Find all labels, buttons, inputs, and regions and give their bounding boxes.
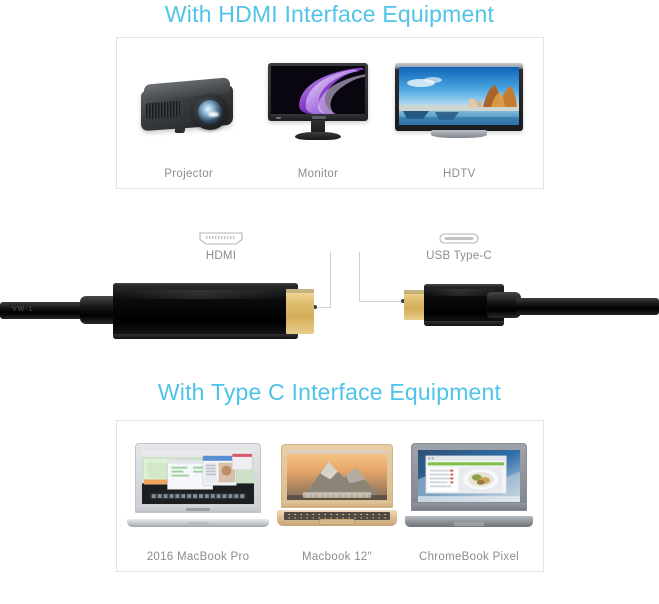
projector-image [137, 38, 241, 166]
device-macbook-pro: 2016 MacBook Pro [127, 421, 269, 563]
hdmi-connector-callout: HDMI [166, 230, 276, 262]
cable-marking-text: VW-1 [12, 306, 33, 313]
monitor-image [268, 38, 368, 166]
device-macbook-12: Macbook 12" [277, 421, 397, 563]
device-label-macbook-12: Macbook 12" [302, 551, 372, 563]
device-monitor: Monitor [268, 38, 368, 180]
usb-type-c-port-icon [404, 230, 514, 246]
typec-device-panel: 2016 MacBook Pro [116, 420, 544, 572]
device-label-projector: Projector [164, 168, 213, 180]
usb-c-gold-plug [404, 290, 426, 320]
cable-cord-right [516, 298, 659, 315]
device-chromebook-pixel: ChromeBook Pixel [405, 421, 533, 563]
hdmi-gold-plug [286, 289, 314, 334]
hdmi-device-row: Projector [117, 38, 543, 188]
macbook-pro-image [127, 421, 269, 549]
device-label-hdtv: HDTV [443, 168, 476, 180]
hdmi-section-heading: With HDMI Interface Equipment [0, 1, 659, 28]
device-projector: Projector [137, 38, 241, 180]
typec-connector-label: USB Type-C [404, 250, 514, 262]
device-label-chromebook-pixel: ChromeBook Pixel [419, 551, 519, 563]
hdmi-to-usb-c-cable: VW-1 [0, 266, 659, 356]
hdmi-connector-label: HDMI [166, 250, 276, 262]
device-label-monitor: Monitor [298, 168, 338, 180]
hdmi-port-icon [166, 230, 276, 246]
cable-strain-relief-left [80, 296, 116, 324]
typec-section-heading: With Type C Interface Equipment [0, 379, 659, 406]
typec-connector-callout: USB Type-C [404, 230, 514, 262]
hdtv-image [395, 38, 523, 166]
infographic-canvas: With HDMI Interface Equipment Pr [0, 0, 659, 604]
hdmi-connector-housing [113, 283, 298, 339]
macbook-12-image [277, 421, 397, 549]
hdmi-device-panel: Projector [116, 37, 544, 189]
device-label-macbook-pro: 2016 MacBook Pro [147, 551, 250, 563]
device-hdtv: HDTV [395, 38, 523, 180]
typec-device-row: 2016 MacBook Pro [117, 421, 543, 571]
chromebook-pixel-image [405, 421, 533, 549]
